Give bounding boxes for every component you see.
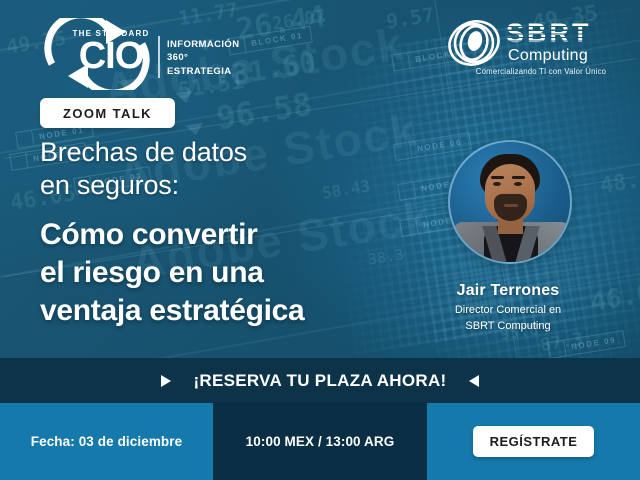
footer-time-label: 10:00 MEX / 13:00 ARG [246, 434, 395, 449]
sbrt-subword: Computing [508, 48, 588, 64]
headline-light-line2: en seguros: [40, 169, 440, 202]
avatar-brow-right [512, 176, 525, 179]
cio-tagline-line2: 360° [167, 51, 239, 64]
cio-tagline-line1: INFORMACIÓN [167, 38, 239, 51]
avatar-brow-left [491, 176, 504, 179]
cio-tagline: INFORMACIÓN 360° ESTRATEGIA [167, 38, 239, 78]
speaker-role-line2: SBRT Computing [408, 319, 608, 335]
footer-date-label: Fecha: 03 de diciembre [31, 434, 183, 449]
headline-light: Brechas de datos en seguros: [40, 136, 440, 203]
footer-date-segment: Fecha: 03 de diciembre [0, 403, 213, 480]
sbrt-tagline: Comercializando TI con Valor Único [446, 68, 636, 76]
speaker-name: Jair Terrones [408, 282, 608, 300]
headline-bold-line3: ventaja estratégica [40, 292, 440, 330]
speaker-role: Director Comercial en SBRT Computing [408, 303, 608, 335]
zoom-talk-badge[interactable]: ZOOM TALK [40, 98, 175, 128]
headline-bold: Cómo convertir el riesgo en una ventaja … [40, 216, 440, 329]
avatar-eye-left [493, 182, 501, 186]
cio-word: CIO [68, 39, 154, 74]
cio-wordmark: THE STANDARD CIO [68, 30, 154, 74]
speaker-role-line1: Director Comercial en [408, 303, 608, 319]
cio-logo: THE STANDARD CIO INFORMACIÓN 360° ESTRAT… [38, 16, 198, 94]
headline-bold-line2: el riesgo en una [40, 254, 440, 292]
headline-bold-line1: Cómo convertir [40, 216, 440, 254]
footer-register-segment: REGÍSTRATE [427, 403, 640, 480]
cio-tagline-line3: ESTRATEGIA [167, 65, 239, 78]
sbrt-wordmark: SBRT [506, 20, 592, 47]
register-button[interactable]: REGÍSTRATE [473, 426, 595, 457]
cta-text: ¡RESERVA TU PLAZA AHORA! [193, 371, 446, 391]
cio-divider [158, 36, 160, 78]
sbrt-logo: SBRT Computing Comercializando TI con Va… [446, 18, 636, 80]
speaker-avatar [448, 140, 572, 264]
cta-band[interactable]: ¡RESERVA TU PLAZA AHORA! [0, 358, 640, 403]
footer-bar: Fecha: 03 de diciembre 10:00 MEX / 13:00… [0, 403, 640, 480]
sbrt-swirl-icon [446, 20, 502, 66]
avatar-mouth [504, 204, 518, 207]
footer-time-segment: 10:00 MEX / 13:00 ARG [213, 403, 427, 480]
webinar-poster: Adobe Stock Adobe Stock Adobe Stock 26.4… [0, 0, 640, 480]
headline-block: Brechas de datos en seguros: Cómo conver… [40, 136, 440, 329]
arrow-right-icon [161, 375, 171, 387]
arrow-left-icon [469, 375, 479, 387]
headline-light-line1: Brechas de datos [40, 136, 440, 169]
avatar-eye-right [514, 182, 522, 186]
